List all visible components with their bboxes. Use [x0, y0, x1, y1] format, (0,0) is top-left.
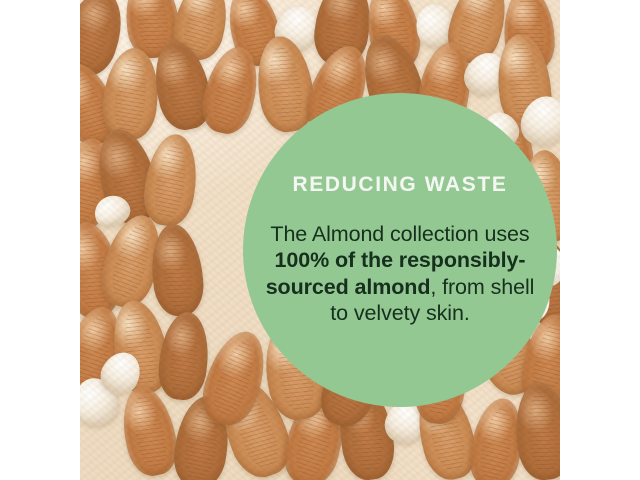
reducing-waste-badge: REDUCING WASTE The Almond collection use…	[243, 93, 557, 407]
badge-body-line: 100% of the responsibly-	[255, 247, 545, 274]
badge-body-text: The Almond collection uses	[270, 222, 529, 246]
screenshot-canvas: REDUCING WASTE The Almond collection use…	[0, 0, 640, 480]
badge-body-line: The Almond collection uses	[255, 221, 545, 248]
badge-body-emphasis: sourced almond	[266, 275, 431, 299]
badge-body-emphasis: 100% of the responsibly-	[275, 248, 526, 272]
badge-title: REDUCING WASTE	[293, 174, 508, 195]
badge-body-text: , from shell	[430, 275, 534, 299]
badge-body-text: to velvety skin.	[330, 301, 469, 325]
badge-body-line: sourced almond, from shell	[255, 274, 545, 301]
almond-photo: REDUCING WASTE The Almond collection use…	[80, 0, 560, 480]
badge-body: The Almond collection uses100% of the re…	[255, 221, 545, 327]
badge-body-line: to velvety skin.	[255, 300, 545, 327]
letterbox-bar-right	[560, 0, 640, 480]
letterbox-bar-left	[0, 0, 80, 480]
